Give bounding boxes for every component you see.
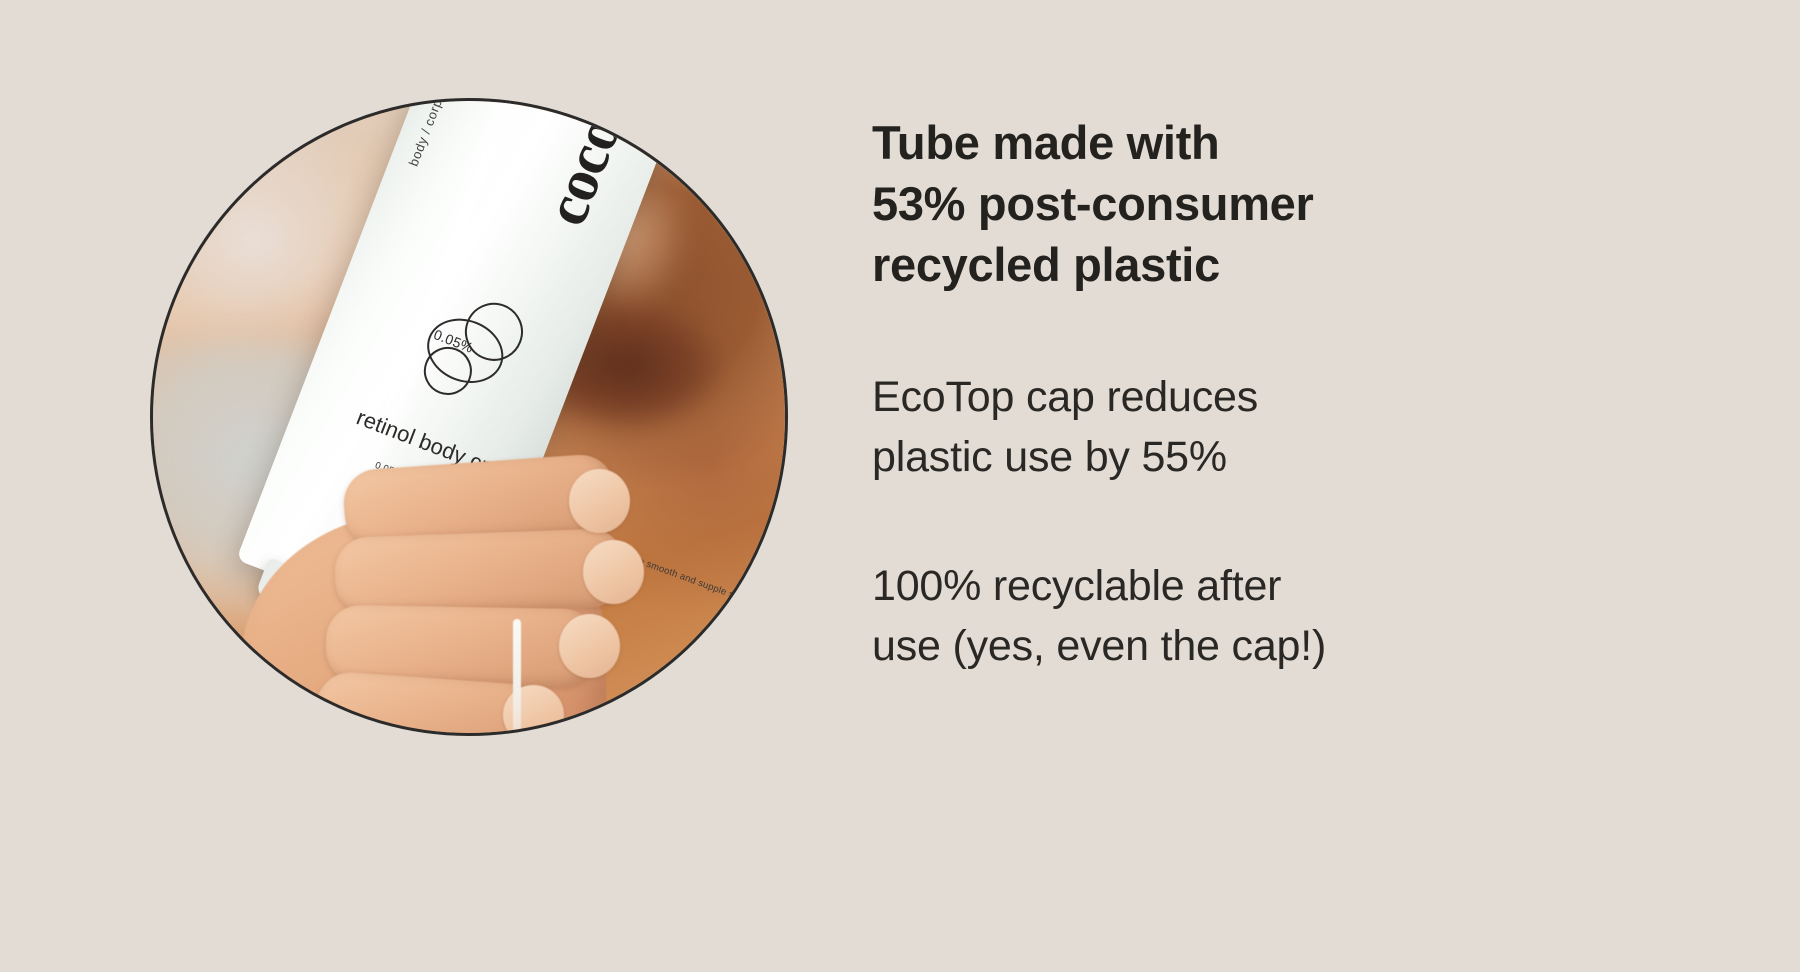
- tube-side-label: body / corp: [406, 101, 445, 168]
- spacer-one: [872, 295, 1572, 367]
- cream-drip: [513, 619, 521, 733]
- fingernail-ring: [559, 614, 620, 678]
- paragraph-recyclable: 100% recyclable after use (yes, even the…: [872, 556, 1572, 676]
- headline-pcr-plastic: Tube made with 53% post-consumer recycle…: [872, 112, 1572, 295]
- fingernail-index: [569, 469, 630, 533]
- product-photo-image: cocok body / corp 0.05% retinol body cre…: [153, 101, 785, 733]
- sustainability-infographic: cocok body / corp 0.05% retinol body cre…: [0, 0, 1800, 972]
- hand-holding-tube: [241, 455, 709, 733]
- spacer-two: [872, 488, 1572, 556]
- text-column: Tube made with 53% post-consumer recycle…: [872, 112, 1572, 676]
- paragraph-ecotop-cap: EcoTop cap reduces plastic use by 55%: [872, 367, 1572, 487]
- tube-brand-wordmark: cocok: [531, 101, 646, 234]
- product-photo-circle: cocok body / corp 0.05% retinol body cre…: [150, 98, 788, 736]
- fingernail-middle: [583, 540, 644, 604]
